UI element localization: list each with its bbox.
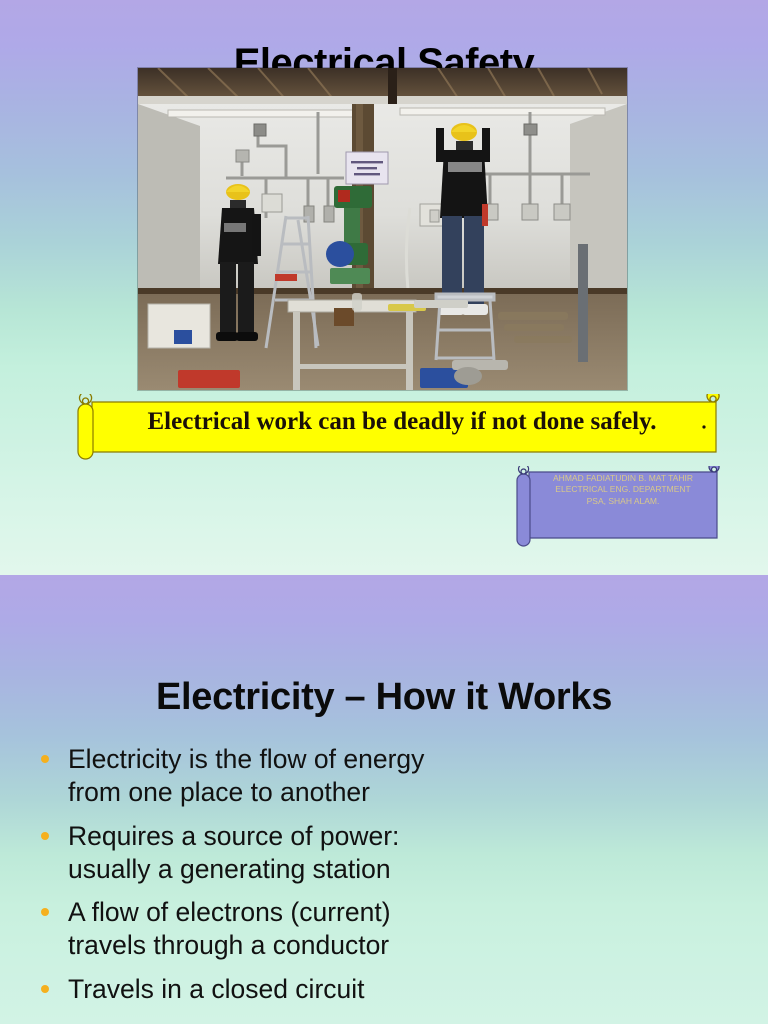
bullet-text: Electricity is the flow of energy from o…: [68, 744, 424, 807]
bullet-dot-icon: [41, 985, 49, 993]
slide-deck: Electrical Safety: [0, 0, 768, 1024]
bullet-text: Travels in a closed circuit: [68, 974, 365, 1004]
bullet-dot-icon: [41, 755, 49, 763]
workshop-photo-image: [138, 68, 627, 390]
author-credit-scroll: AHMAD FADIATUDIN B. MAT TAHIR ELECTRICAL…: [511, 466, 723, 550]
bullet-text: A flow of electrons (current) travels th…: [68, 897, 391, 960]
workshop-photo: [138, 68, 627, 390]
author-credit-text: AHMAD FADIATUDIN B. MAT TAHIR ELECTRICAL…: [533, 473, 713, 507]
bullet-dot-icon: [41, 908, 49, 916]
list-item: Travels in a closed circuit: [30, 973, 450, 1006]
list-item: Requires a source of power: usually a ge…: [30, 820, 450, 886]
list-item: A flow of electrons (current) travels th…: [30, 896, 450, 962]
slide-1: Electrical Safety: [0, 0, 768, 575]
bullet-text: Requires a source of power: usually a ge…: [68, 821, 399, 884]
slide-2: Electricity – How it Works Electricity i…: [0, 575, 768, 1024]
credit-line-1: AHMAD FADIATUDIN B. MAT TAHIR: [533, 473, 713, 484]
bullet-list: Electricity is the flow of energy from o…: [30, 743, 450, 1017]
slide-2-title: Electricity – How it Works: [0, 676, 768, 719]
list-item: Electricity is the flow of energy from o…: [30, 743, 450, 809]
credit-line-2: ELECTRICAL ENG. DEPARTMENT: [533, 484, 713, 495]
warning-text: Electrical work can be deadly if not don…: [96, 394, 708, 450]
bullet-dot-icon: [41, 832, 49, 840]
warning-scroll-banner: Electrical work can be deadly if not don…: [68, 394, 723, 462]
credit-line-3: PSA, SHAH ALAM.: [533, 496, 713, 507]
